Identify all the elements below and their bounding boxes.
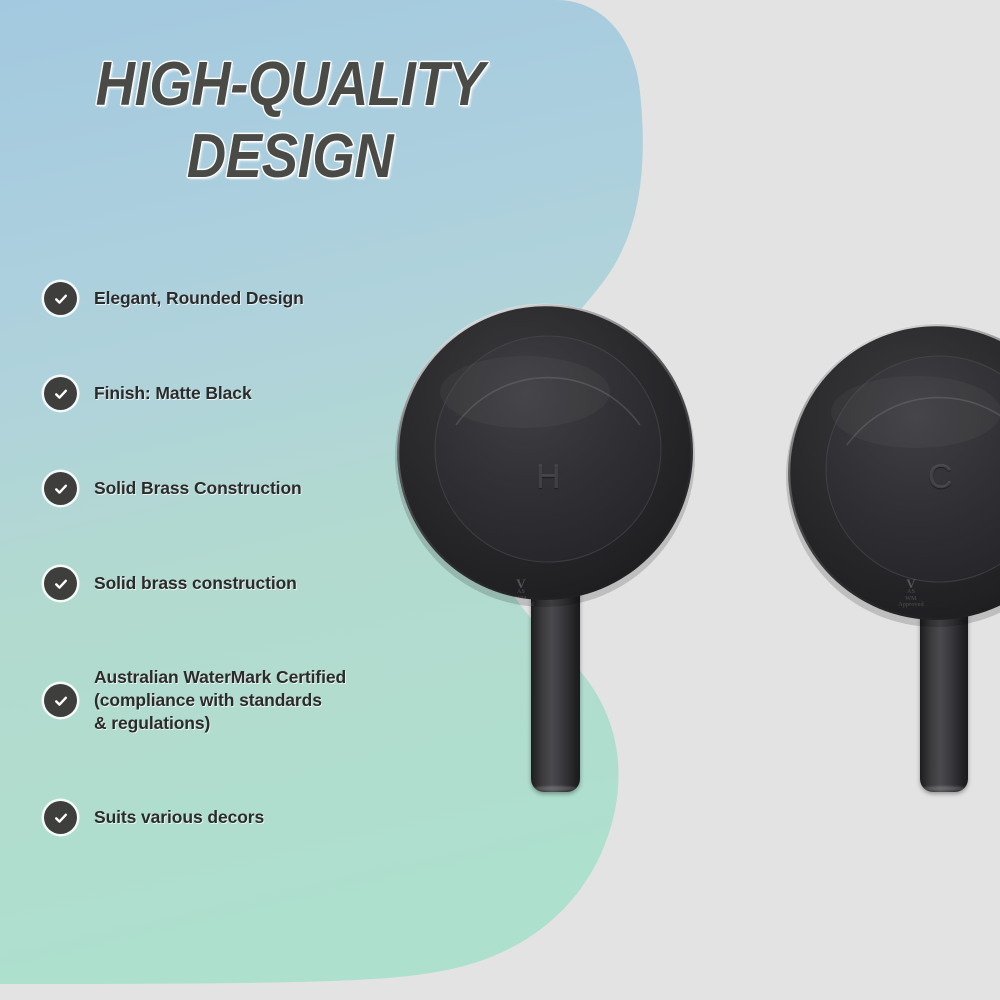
list-item: Australian WaterMark Certified (complian… xyxy=(44,666,474,735)
feature-label: Australian WaterMark Certified (complian… xyxy=(94,666,346,735)
check-circle-icon xyxy=(44,282,77,315)
feature-label: Elegant, Rounded Design xyxy=(94,287,304,310)
feature-label: Finish: Matte Black xyxy=(94,382,252,405)
hot-handle-plate xyxy=(390,297,700,607)
feature-label: Suits various decors xyxy=(94,806,264,829)
product-feature-banner: HIGH-QUALITY DESIGN Elegant, Rounded Des… xyxy=(0,0,1000,1000)
list-item: Suits various decors xyxy=(44,801,474,834)
check-circle-icon xyxy=(44,377,77,410)
check-circle-icon xyxy=(44,684,77,717)
check-circle-icon xyxy=(44,567,77,600)
check-circle-icon xyxy=(44,801,77,834)
feature-label: Solid brass construction xyxy=(94,572,297,595)
cold-handle-plate xyxy=(781,317,1000,627)
check-circle-icon xyxy=(44,472,77,505)
feature-label: Solid Brass Construction xyxy=(94,477,302,500)
